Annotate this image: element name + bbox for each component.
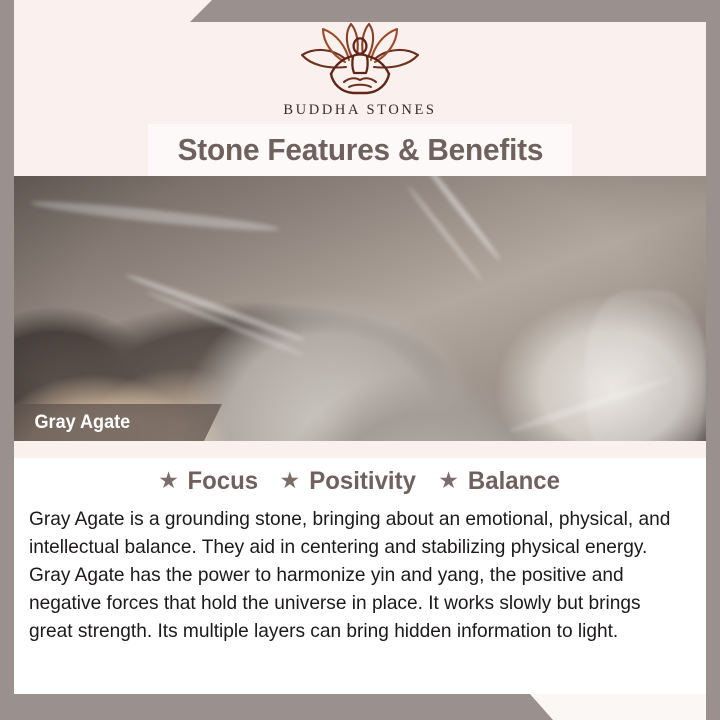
star-icon: ★ bbox=[158, 469, 179, 492]
stone-name: Gray Agate bbox=[35, 412, 131, 434]
stone-photo bbox=[0, 176, 720, 441]
benefit-label: Positivity bbox=[309, 467, 416, 496]
stone-description: Gray Agate is a grounding stone, bringin… bbox=[29, 505, 681, 645]
stone-info-card: BUDDHA STONES Stone Features & Benefits … bbox=[0, 0, 720, 720]
photo-divider-strip bbox=[14, 441, 706, 458]
photo-vignette bbox=[0, 176, 720, 441]
frame-border-right bbox=[706, 0, 720, 720]
card-page: BUDDHA STONES Stone Features & Benefits … bbox=[0, 0, 720, 720]
card-header: BUDDHA STONES Stone Features & Benefits bbox=[0, 0, 720, 176]
card-content: ★ Focus ★ Positivity ★ Balance Gray Agat… bbox=[14, 458, 706, 694]
benefit-label: Focus bbox=[187, 467, 258, 496]
star-icon: ★ bbox=[438, 469, 459, 492]
star-icon: ★ bbox=[279, 469, 300, 492]
lotus-meditation-icon bbox=[289, 22, 431, 100]
stone-name-banner: Gray Agate bbox=[14, 404, 222, 441]
benefit-item-focus: ★ Focus bbox=[158, 467, 259, 496]
brand-logo: BUDDHA STONES bbox=[260, 22, 460, 119]
frame-border-left bbox=[0, 0, 14, 720]
benefit-label: Balance bbox=[468, 467, 560, 496]
brand-wordmark: BUDDHA STONES bbox=[260, 102, 460, 119]
benefit-item-balance: ★ Balance bbox=[438, 467, 562, 496]
page-title: Stone Features & Benefits bbox=[177, 132, 543, 168]
benefit-item-positivity: ★ Positivity bbox=[279, 467, 418, 496]
title-plaque: Stone Features & Benefits bbox=[148, 124, 572, 176]
benefit-keywords: ★ Focus ★ Positivity ★ Balance bbox=[14, 458, 706, 496]
